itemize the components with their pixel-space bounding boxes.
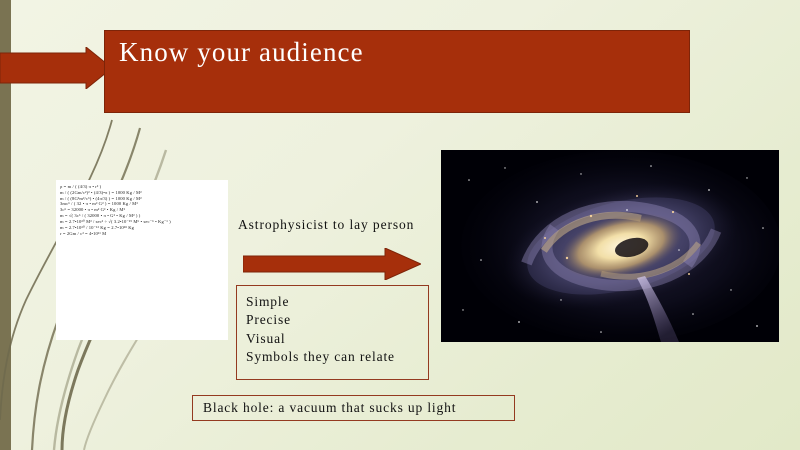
equation-line: r = 2Gm / c² = 4•10¹¹ M [60,232,224,237]
caption-text: Black hole: a vacuum that sucks up light [193,400,456,416]
slide-canvas: Know your audience ρ = m / ( (4/3) π • r… [0,0,800,450]
list-item: Symbols they can relate [246,348,428,366]
flow-label: Astrophysicist to lay person [238,217,414,233]
equation-line: m / ( (2Gm/c²)³ • (4/3)•π ) = 1000 Kg / … [60,191,224,196]
list-item: Visual [246,330,428,348]
equations-image: ρ = m / ( (4/3) π • r³ ) m / ( (2Gm/c²)³… [56,180,228,340]
right-arrow-icon [243,248,421,280]
caption-box: Black hole: a vacuum that sucks up light [192,395,515,421]
equation-lines: ρ = m / ( (4/3) π • r³ ) m / ( (2Gm/c²)³… [56,180,228,236]
guidelines-box: Simple Precise Visual Symbols they can r… [236,285,429,380]
guidelines-list: Simple Precise Visual Symbols they can r… [237,286,428,367]
title-arrow-icon [0,47,112,89]
galaxy-illustration [441,150,779,342]
equation-line: m = 2.7•10³⁰ / 10⁻¹² Kg = 2.7•10³⁸ Kg [60,226,224,231]
list-item: Precise [246,311,428,329]
galaxy-image [441,150,779,342]
page-title: Know your audience [119,37,364,68]
list-item: Simple [246,293,428,311]
equation-line: m = 2.7•10³⁰ M³ / sec³ ÷ √( 3.2•10⁻³⁵ M⁶… [60,220,224,225]
title-banner: Know your audience [104,30,690,113]
